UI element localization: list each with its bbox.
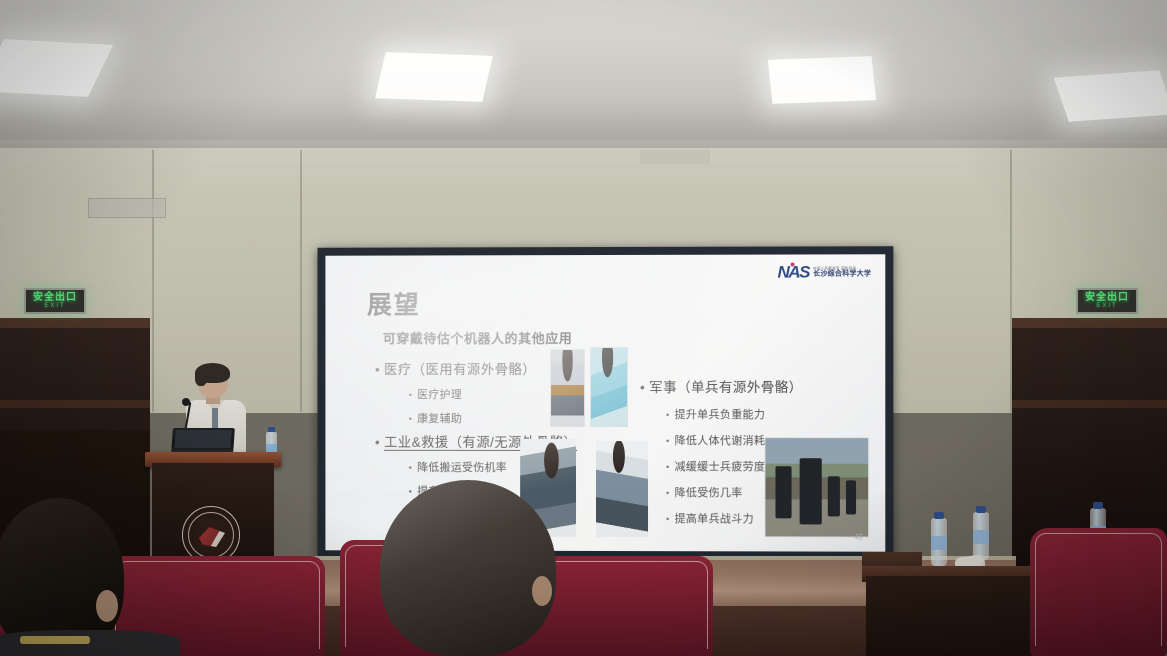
logo-mark-text: NAS [777,265,809,281]
ear [96,590,118,622]
university-logo: NAS 中国人民解放军 国防科技 长沙综合科学大学 [777,264,871,280]
bullet-level2: •提升单兵负重能力 [666,406,865,422]
presenter-hair [195,368,207,386]
shirt-detail [20,636,90,644]
exit-sign-chinese-text: 安全出口 [33,293,77,303]
audience-member-head [380,480,556,656]
wall-seam [152,150,154,412]
ceiling-light-panel [1054,70,1167,122]
slide-title: 展望 [367,284,875,321]
wood-trim [0,400,150,408]
wall-seam [300,150,302,412]
water-bottle[interactable] [973,512,989,560]
medical-exoskeleton-photo-1 [550,349,585,427]
bottle-cap [976,506,986,513]
wood-trim [1012,400,1167,408]
seat-piping [1035,533,1162,646]
ceiling-light-panel [768,56,876,104]
medical-exoskeleton-photo-2 [590,347,628,427]
laptop-screen [175,430,232,448]
side-table-body [866,576,1056,656]
auditorium-seat [1030,528,1167,656]
exit-sign-english-text: EXIT [44,303,65,310]
wood-trim [0,318,150,328]
logo-large-line: 长沙综合科学大学 [813,270,871,278]
lecture-hall-scene: 安全出口 EXIT 安全出口 EXIT NAS 中国人民解放军 国防科技 长沙综… [0,0,1167,656]
exit-sign-chinese-text: 安全出口 [1085,293,1129,303]
bottle-label [973,530,989,544]
bottle-label [931,536,947,550]
bottle-cap [1093,502,1103,509]
ceiling-vent [640,150,710,164]
bottle-cap [934,512,944,519]
bullet-level1: •军事（单兵有源外骨骼） [640,376,865,396]
logo-accent-dot [791,263,795,267]
slide-subtitle: 可穿戴待估个机器人的其他应用 [383,328,875,348]
exit-sign-english-text: EXIT [1096,303,1117,310]
microphone-head [182,398,190,406]
wood-trim [1012,318,1167,328]
ceiling-light-panel [375,52,493,102]
military-exoskeleton-photo [764,437,869,538]
exit-sign-left: 安全出口 EXIT [24,288,86,314]
laptop[interactable] [171,428,235,454]
slide-number: 49 [854,533,863,542]
water-bottle[interactable] [931,518,947,566]
industrial-exoskeleton-photo-2 [596,441,648,537]
ear [532,576,552,606]
audience-member-shoulder [0,630,180,656]
exit-sign-right: 安全出口 EXIT [1076,288,1138,314]
bottle-cap [268,427,275,432]
ceiling-vent [88,198,166,218]
